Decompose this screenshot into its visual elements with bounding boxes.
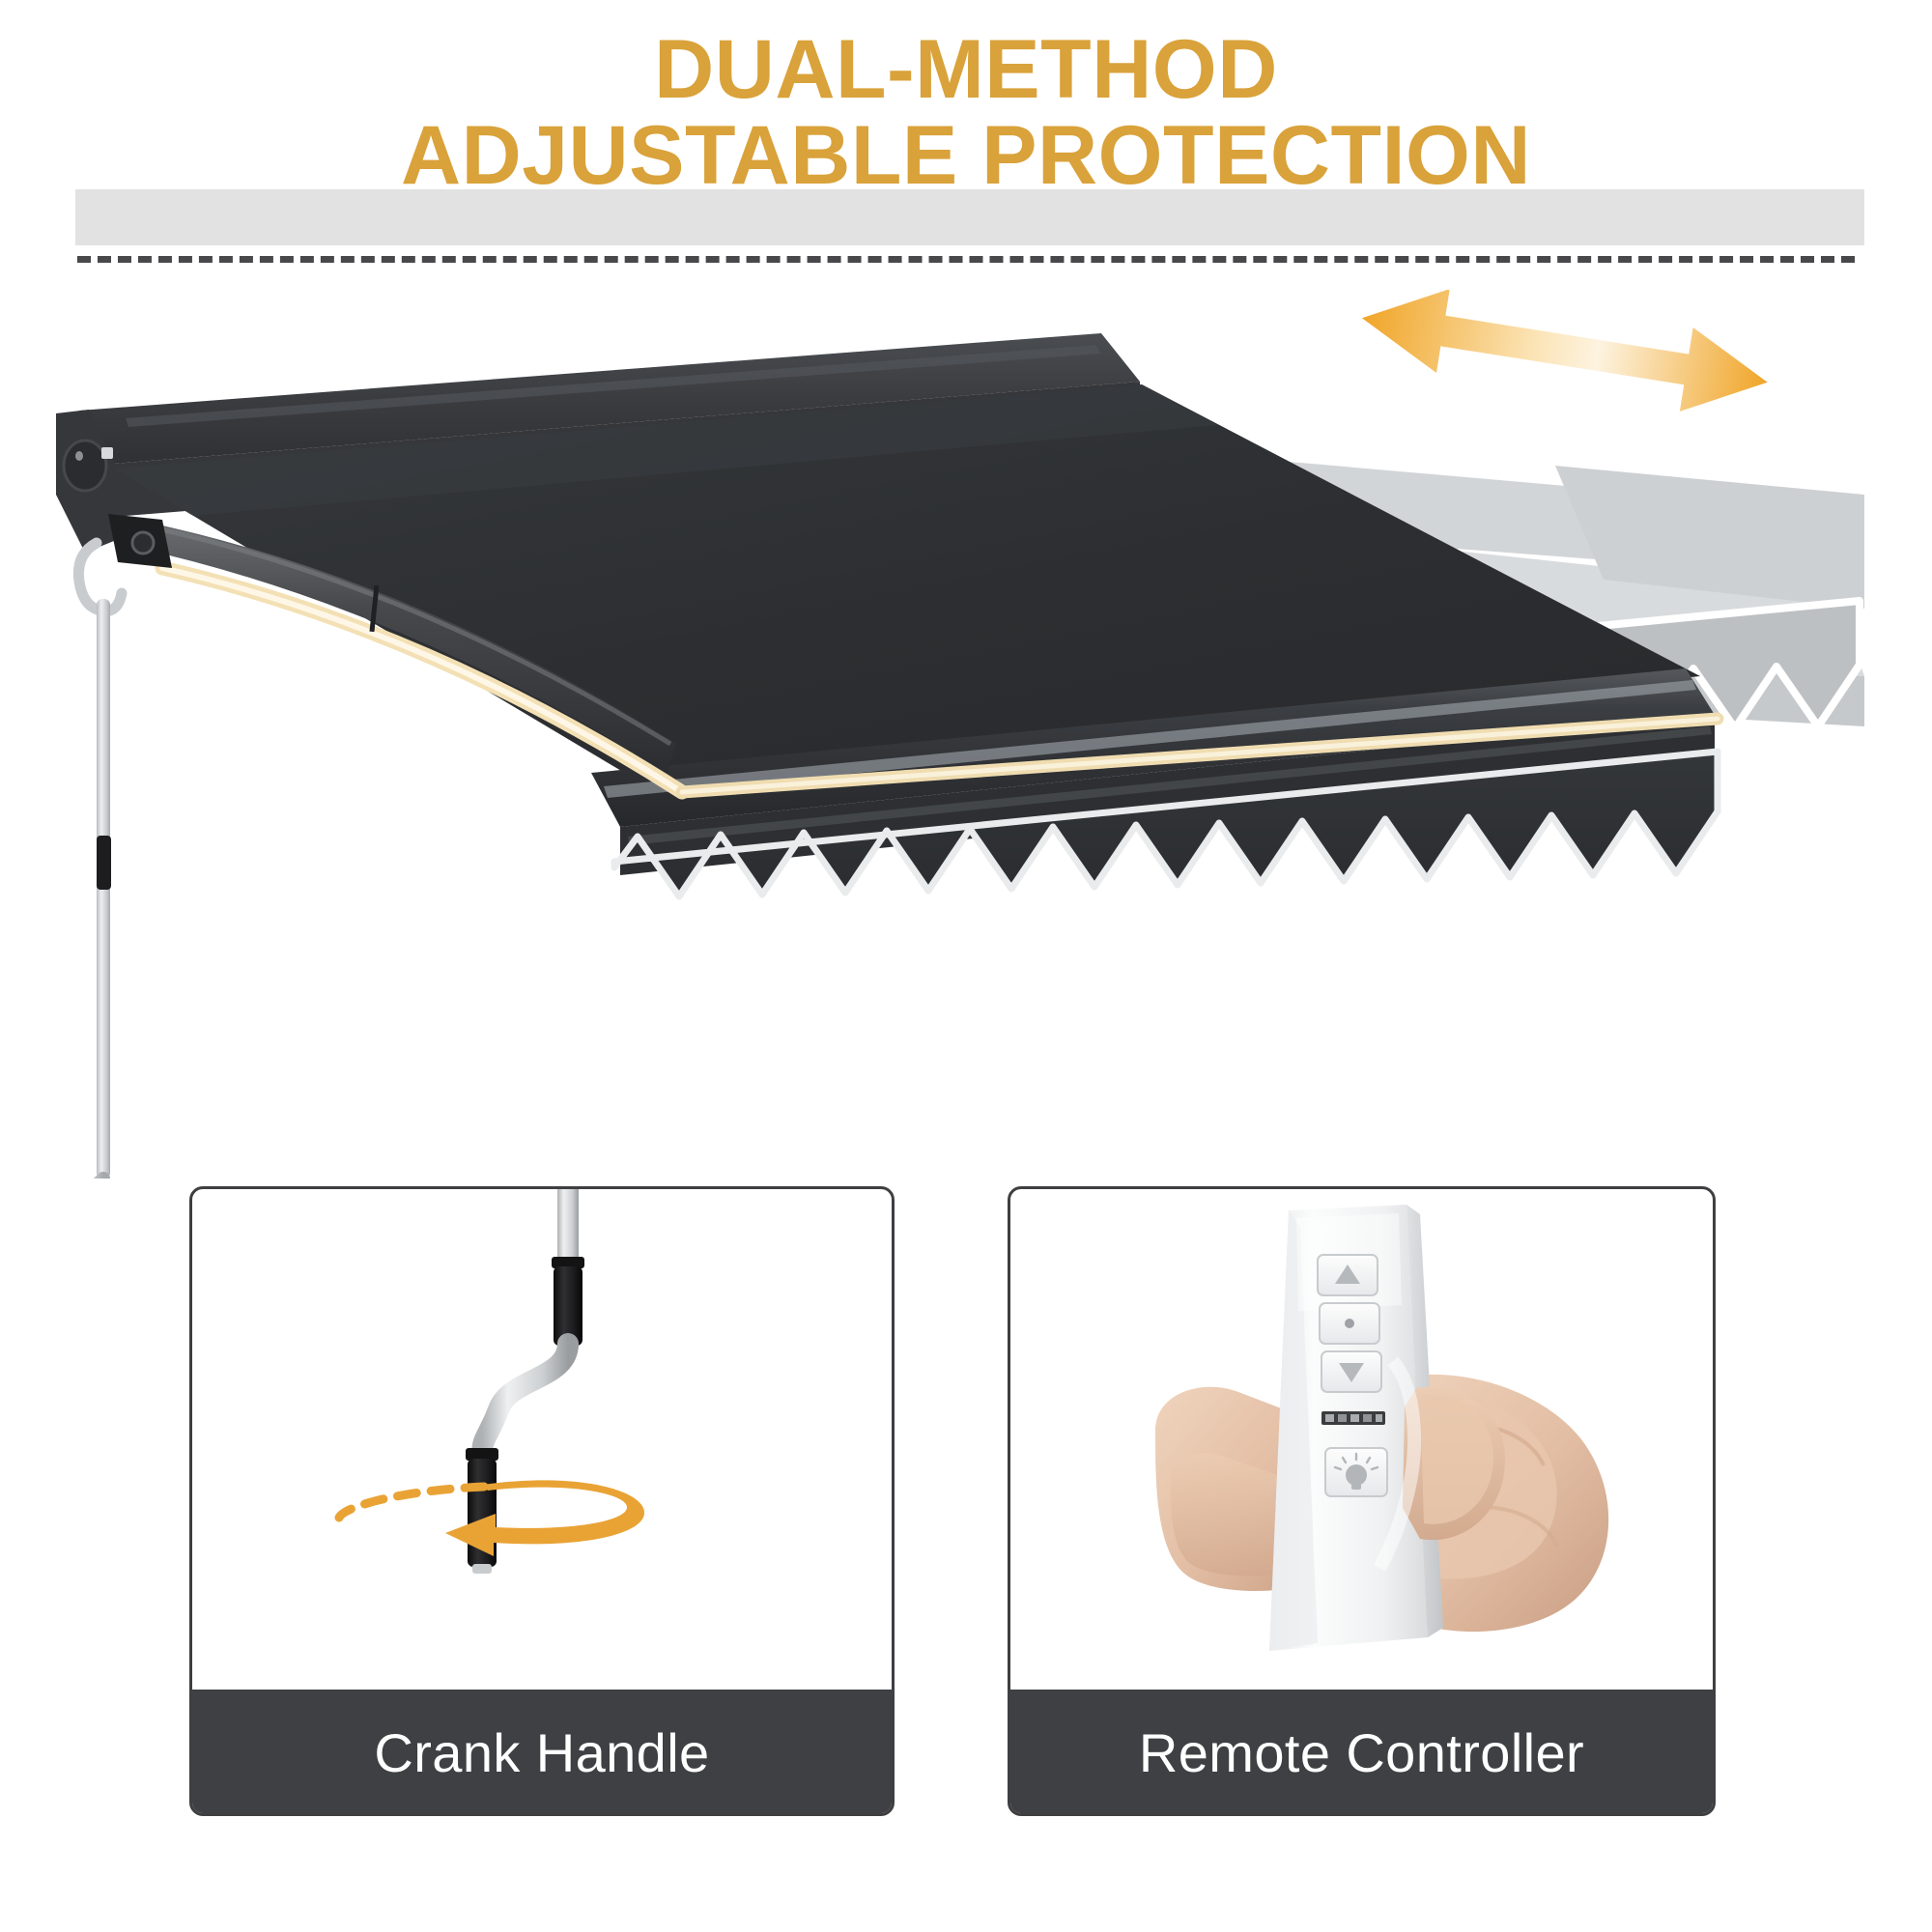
rotation-arrow-dashed <box>339 1487 484 1518</box>
crank-end-cap <box>472 1564 492 1574</box>
crank-shaft-upper <box>557 1189 579 1263</box>
feature-panel-crank-handle: Crank Handle <box>189 1186 895 1816</box>
dashed-divider <box>77 256 1855 263</box>
hero-product-figure <box>0 290 1932 1179</box>
panel-label-crank: Crank Handle <box>189 1690 895 1816</box>
remote-controller-figure <box>1010 1189 1713 1686</box>
panel-label-remote-text: Remote Controller <box>1139 1721 1584 1784</box>
led-indicator-strip <box>1321 1411 1385 1425</box>
dot-icon <box>1345 1319 1354 1328</box>
panel-label-crank-text: Crank Handle <box>374 1721 709 1784</box>
title-line-2: ADJUSTABLE PROTECTION <box>0 113 1932 199</box>
title-line-1: DUAL-METHOD <box>0 27 1932 113</box>
crank-s-bend <box>482 1344 568 1456</box>
crank-hook-and-rod <box>57 543 122 1179</box>
page-title: DUAL-METHOD ADJUSTABLE PROTECTION <box>0 27 1932 200</box>
crank-handle-figure <box>192 1189 892 1686</box>
extend-retract-double-arrow <box>1355 290 1775 424</box>
header: DUAL-METHOD ADJUSTABLE PROTECTION <box>0 0 1932 280</box>
panel-label-remote: Remote Controller <box>1008 1690 1716 1816</box>
awning-illustration <box>0 290 1932 1179</box>
feature-panel-remote-controller: Remote Controller <box>1008 1186 1716 1816</box>
remote-buttons <box>1318 1255 1387 1496</box>
